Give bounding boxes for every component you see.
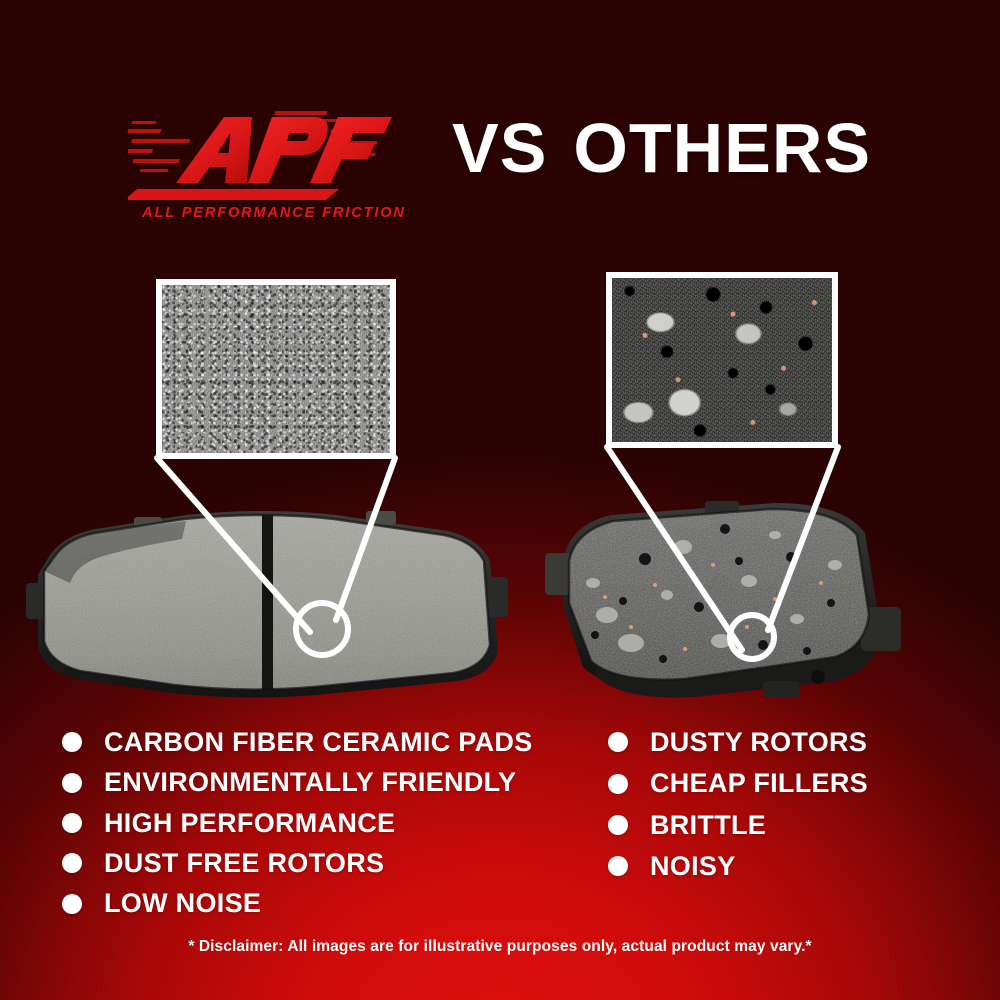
feature-label: CARBON FIBER CERAMIC PADS <box>104 728 533 756</box>
apf-pad-clip-right <box>366 511 396 525</box>
others-pad-tab-left <box>545 553 571 595</box>
bullet-dot-icon <box>62 853 82 873</box>
list-item: CARBON FIBER CERAMIC PADS <box>62 728 562 756</box>
apf-logo-icon <box>128 103 408 203</box>
vs-label: VS <box>452 109 547 187</box>
disclaimer-text: * Disclaimer: All images are for illustr… <box>0 938 1000 956</box>
feature-label: NOISY <box>650 852 736 880</box>
list-item: DUST FREE ROTORS <box>62 849 562 877</box>
list-item: BRITTLE <box>608 811 938 839</box>
others-texture-inner <box>612 278 832 442</box>
list-item: ENVIRONMENTALLY FRIENDLY <box>62 768 562 796</box>
bullet-dot-icon <box>62 773 82 793</box>
bullet-dot-icon <box>608 815 628 835</box>
others-pad-hole <box>811 670 825 684</box>
comparison-infographic: ALL PERFORMANCE FRICTION VSOTHERS <box>0 0 1000 1000</box>
apf-texture-inner <box>162 285 390 453</box>
page-title: VSOTHERS <box>452 113 871 183</box>
feature-label: DUST FREE ROTORS <box>104 849 384 877</box>
bullet-dot-icon <box>608 774 628 794</box>
others-friction-texture <box>612 278 832 442</box>
apf-pad-illustration <box>14 505 514 705</box>
others-texture-swatch <box>606 272 838 448</box>
feature-label: HIGH PERFORMANCE <box>104 809 395 837</box>
list-item: HIGH PERFORMANCE <box>62 809 562 837</box>
feature-label: BRITTLE <box>650 811 766 839</box>
list-item: CHEAP FILLERS <box>608 769 938 797</box>
feature-label: CHEAP FILLERS <box>650 769 868 797</box>
list-item: DUSTY ROTORS <box>608 728 938 756</box>
others-pad-clip-bottom-right <box>763 681 799 697</box>
others-label: OTHERS <box>573 109 871 187</box>
bullet-dot-icon <box>62 732 82 752</box>
list-item: LOW NOISE <box>62 889 562 917</box>
others-pad-illustration <box>535 495 935 725</box>
logo-tagline: ALL PERFORMANCE FRICTION <box>140 205 408 221</box>
feature-label: DUSTY ROTORS <box>650 728 867 756</box>
list-item: NOISY <box>608 852 938 880</box>
bullet-dot-icon <box>62 813 82 833</box>
header: ALL PERFORMANCE FRICTION VSOTHERS <box>0 95 1000 240</box>
apf-logo: ALL PERFORMANCE FRICTION <box>128 103 408 238</box>
bullet-dot-icon <box>62 894 82 914</box>
others-feature-list: DUSTY ROTORS CHEAP FILLERS BRITTLE NOISY <box>608 728 938 893</box>
apf-feature-list: CARBON FIBER CERAMIC PADS ENVIRONMENTALL… <box>62 728 562 930</box>
others-brake-pad-image <box>535 495 935 725</box>
feature-label: LOW NOISE <box>104 889 261 917</box>
apf-brake-pad-image <box>14 505 514 705</box>
bullet-dot-icon <box>608 732 628 752</box>
apf-texture-swatch <box>156 279 396 459</box>
bullet-dot-icon <box>608 856 628 876</box>
feature-label: ENVIRONMENTALLY FRIENDLY <box>104 768 516 796</box>
apf-friction-texture <box>162 285 390 453</box>
